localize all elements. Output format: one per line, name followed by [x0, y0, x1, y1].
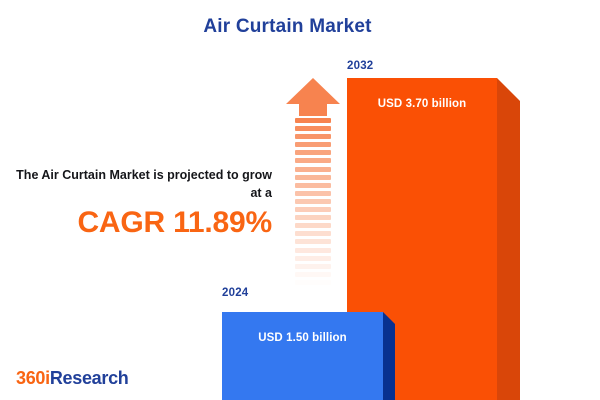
bar-2024-value-label: USD 1.50 billion — [222, 332, 383, 344]
infographic-canvas: Air Curtain Market 2032 USD 3.70 billion… — [0, 0, 600, 400]
arrow-head-icon — [286, 78, 340, 116]
arrow-stripe — [295, 239, 331, 244]
arrow-stripe — [295, 280, 331, 285]
arrow-stripe — [295, 150, 331, 155]
brand-logo-suffix: Research — [50, 368, 129, 388]
arrow-stripe — [295, 207, 331, 212]
cagr-value-text: CAGR 11.89% — [8, 206, 272, 239]
brand-logo-prefix: 360i — [16, 368, 50, 388]
page-title: Air Curtain Market — [0, 16, 575, 38]
arrow-stripe — [295, 167, 331, 172]
arrow-stripe — [295, 215, 331, 220]
arrow-stripe — [295, 288, 331, 293]
bar-2024: USD 1.50 billion — [222, 312, 395, 400]
arrow-stripe — [295, 231, 331, 236]
arrow-stripe — [295, 256, 331, 261]
arrow-stripe — [295, 175, 331, 180]
bar-2024-front-face — [222, 312, 383, 400]
arrow-stripe — [295, 142, 331, 147]
bar-label-2032: 2032 — [347, 60, 373, 72]
arrow-stripe — [295, 191, 331, 196]
brand-logo: 360iResearch — [16, 368, 129, 389]
arrow-stripe — [295, 158, 331, 163]
arrow-shaft-stripes — [295, 118, 331, 298]
cagr-callout: The Air Curtain Market is projected to g… — [8, 166, 272, 239]
arrow-stripe — [295, 248, 331, 253]
arrow-stripe — [295, 126, 331, 131]
upward-growth-arrow-icon — [286, 78, 340, 298]
bar-label-2024: 2024 — [222, 287, 248, 299]
arrow-stripe — [295, 223, 331, 228]
arrow-stripe — [295, 134, 331, 139]
bar-2032-value-label: USD 3.70 billion — [347, 98, 497, 110]
arrow-stripe — [295, 183, 331, 188]
arrow-stripe — [295, 118, 331, 123]
cagr-lead-text: The Air Curtain Market is projected to g… — [8, 166, 272, 202]
arrow-stripe — [295, 264, 331, 269]
arrow-stripe — [295, 296, 331, 301]
arrow-stripe — [295, 199, 331, 204]
arrow-stripe — [295, 272, 331, 277]
